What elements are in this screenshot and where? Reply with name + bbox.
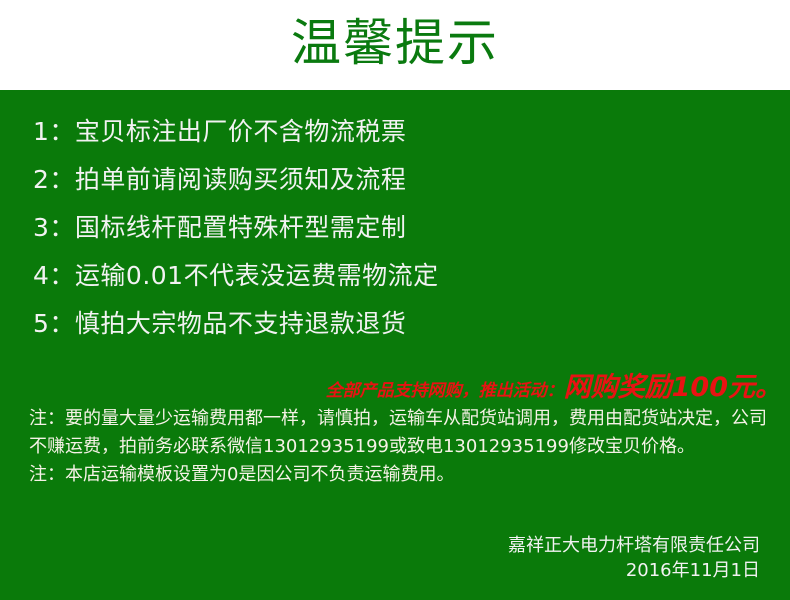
- notice-separator-2: ：: [49, 165, 75, 194]
- footnote-paragraph-1: 注：要的量大量少运输费用都一样，请慎拍，运输车从配货站调用，费用由配货站决定，公…: [29, 405, 769, 461]
- notice-separator-1: ：: [49, 117, 75, 146]
- notice-text-2: 拍单前请阅读购买须知及流程: [75, 165, 407, 194]
- notice-item-2: 2：拍单前请阅读购买须知及流程: [33, 156, 753, 204]
- promo-notice-page: 温馨提示 1：宝贝标注出厂价不含物流税票 2：拍单前请阅读购买须知及流程 3：国…: [0, 0, 790, 600]
- notice-index-1: 1: [33, 117, 49, 146]
- page-title: 温馨提示: [0, 12, 790, 74]
- promotion-banner: 全部产品支持网购，推出活动：网购奖励100元。: [0, 365, 790, 404]
- notice-text-4: 运输0.01不代表没运费需物流定: [75, 261, 439, 290]
- notice-separator-5: ：: [49, 309, 75, 338]
- promotion-lead-text: 全部产品支持网购，推出活动：: [326, 381, 564, 401]
- promotion-highlight-text: 网购奖励100元。: [564, 372, 782, 403]
- notice-text-1: 宝贝标注出厂价不含物流税票: [75, 117, 407, 146]
- footnote-paragraph-2: 注：本店运输模板设置为0是因公司不负责运输费用。: [29, 461, 769, 489]
- signature-block: 嘉祥正大电力杆塔有限责任公司 2016年11月1日: [340, 533, 760, 583]
- notice-text-3: 国标线杆配置特殊杆型需定制: [75, 213, 407, 242]
- footnotes: 注：要的量大量少运输费用都一样，请慎拍，运输车从配货站调用，费用由配货站决定，公…: [29, 405, 769, 489]
- green-content-panel: 1：宝贝标注出厂价不含物流税票 2：拍单前请阅读购买须知及流程 3：国标线杆配置…: [0, 90, 790, 600]
- notice-text-5: 慎拍大宗物品不支持退款退货: [75, 309, 407, 338]
- notice-separator-3: ：: [49, 213, 75, 242]
- notice-item-1: 1：宝贝标注出厂价不含物流税票: [33, 108, 753, 156]
- notice-index-2: 2: [33, 165, 49, 194]
- notice-item-4: 4：运输0.01不代表没运费需物流定: [33, 252, 753, 300]
- notice-item-5: 5：慎拍大宗物品不支持退款退货: [33, 300, 753, 348]
- notice-index-3: 3: [33, 213, 49, 242]
- notice-list: 1：宝贝标注出厂价不含物流税票 2：拍单前请阅读购买须知及流程 3：国标线杆配置…: [33, 108, 753, 348]
- notice-separator-4: ：: [49, 261, 75, 290]
- signature-company: 嘉祥正大电力杆塔有限责任公司: [340, 533, 760, 558]
- header-band: 温馨提示: [0, 0, 790, 90]
- notice-index-4: 4: [33, 261, 49, 290]
- notice-item-3: 3：国标线杆配置特殊杆型需定制: [33, 204, 753, 252]
- notice-index-5: 5: [33, 309, 49, 338]
- signature-date: 2016年11月1日: [340, 558, 760, 583]
